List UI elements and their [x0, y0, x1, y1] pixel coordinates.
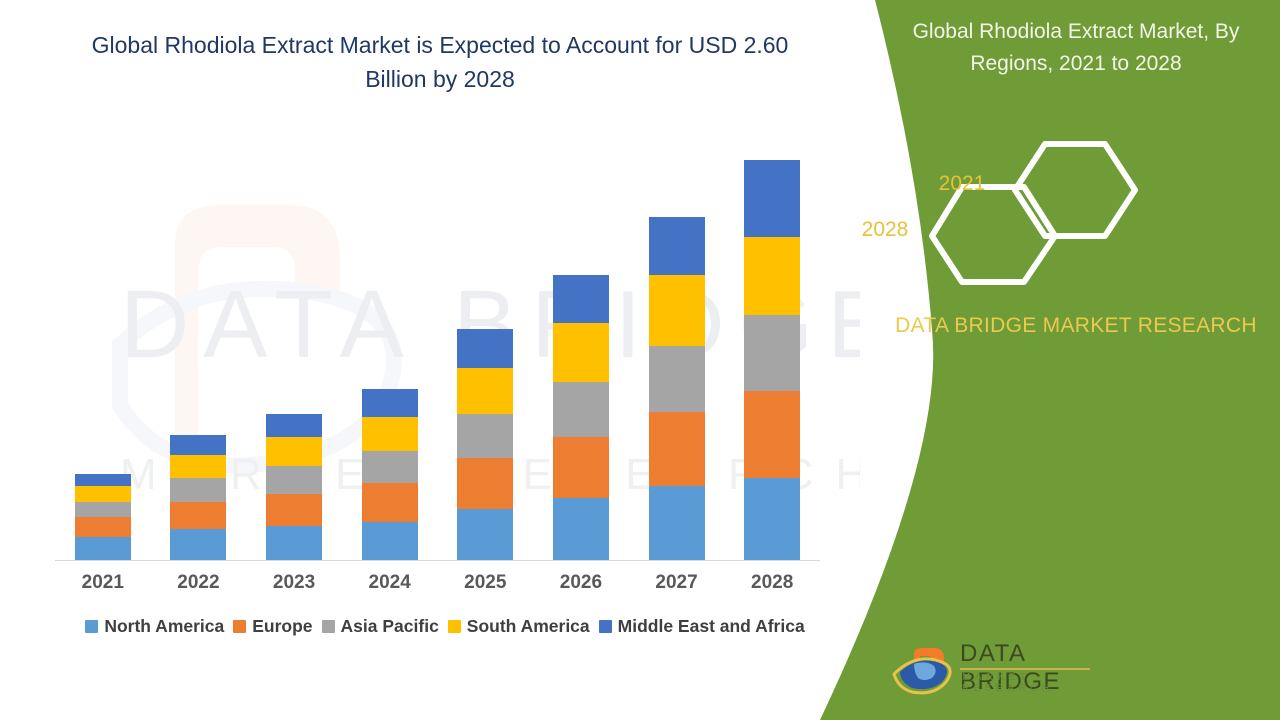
x-axis-label: 2027 [632, 572, 722, 594]
bar-segment [553, 275, 609, 323]
hexagon-label-2028: 2028 [845, 218, 925, 242]
bar-segment [553, 382, 609, 437]
bar-segment [744, 160, 800, 237]
legend-label: South America [467, 616, 590, 637]
bar-group [170, 435, 226, 560]
x-axis-labels: 20212022202320242025202620272028 [55, 572, 820, 602]
hexagon-label-2021: 2021 [922, 172, 1002, 196]
x-axis-label: 2026 [536, 572, 626, 594]
legend-item[interactable]: Middle East and Africa [599, 616, 805, 637]
bar-group [649, 217, 705, 560]
infographic-slide: DATA BRIDGE MARKET RESEARCH Global Rhodi… [0, 0, 1280, 720]
chart-title: Global Rhodiola Extract Market is Expect… [60, 28, 820, 96]
logo-divider [960, 668, 1090, 670]
bar-segment [744, 391, 800, 479]
bar-segment [170, 455, 226, 478]
bar-segment [362, 522, 418, 560]
bar-group [457, 329, 513, 560]
green-panel-shape [820, 0, 1280, 720]
legend-item[interactable]: Europe [233, 616, 312, 637]
bar-segment [744, 478, 800, 560]
legend-item[interactable]: North America [85, 616, 224, 637]
bar-segment [170, 529, 226, 560]
bar-segment [553, 323, 609, 381]
x-axis-label: 2025 [440, 572, 530, 594]
green-side-panel: Global Rhodiola Extract Market, By Regio… [820, 0, 1280, 720]
legend-item[interactable]: South America [448, 616, 590, 637]
bar-segment [457, 414, 513, 459]
bar-segment [744, 315, 800, 390]
bar-segment [170, 502, 226, 530]
bar-segment [744, 237, 800, 315]
x-axis-label: 2021 [58, 572, 148, 594]
bar-segment [362, 389, 418, 417]
legend-swatch-icon [599, 620, 612, 633]
bar-segment [362, 451, 418, 483]
bar-segment [649, 217, 705, 275]
legend-label: North America [104, 616, 224, 637]
bar-segment [649, 412, 705, 486]
hexagon-outline-icon [920, 140, 1150, 285]
legend-label: Asia Pacific [341, 616, 439, 637]
x-axis-line [55, 560, 820, 561]
bar-segment [75, 474, 131, 486]
bar-segment [266, 494, 322, 526]
bar-segment [553, 437, 609, 499]
bar-segment [75, 486, 131, 501]
bar-segment [457, 329, 513, 367]
legend-label: Europe [252, 616, 312, 637]
bar-segment [553, 498, 609, 560]
panel-title: Global Rhodiola Extract Market, By Regio… [820, 16, 1280, 80]
bar-segment [457, 368, 513, 414]
x-axis-label: 2028 [727, 572, 817, 594]
bar-segment [649, 486, 705, 560]
bar-group [362, 389, 418, 560]
chart-plot-area [55, 160, 820, 560]
bar-segment [649, 275, 705, 346]
hexagon-badges [920, 140, 1150, 285]
bar-group [553, 275, 609, 560]
bar-segment [266, 414, 322, 437]
bar-segment [649, 346, 705, 412]
x-axis-label: 2024 [345, 572, 435, 594]
x-axis-label: 2023 [249, 572, 339, 594]
chart-legend: North AmericaEuropeAsia PacificSouth Ame… [55, 616, 835, 637]
legend-label: Middle East and Africa [618, 616, 805, 637]
bar-segment [266, 466, 322, 494]
legend-swatch-icon [322, 620, 335, 633]
bar-segment [170, 435, 226, 455]
bar-segment [75, 502, 131, 517]
x-axis-label: 2022 [153, 572, 243, 594]
legend-swatch-icon [85, 620, 98, 633]
bar-segment [362, 483, 418, 521]
bar-segment [457, 509, 513, 560]
logo-subtitle: MARKET RESEARCH [962, 672, 1120, 694]
bar-segment [266, 526, 322, 560]
bar-group [266, 414, 322, 560]
logo-mark-icon [890, 630, 960, 700]
bar-group [75, 474, 131, 560]
legend-swatch-icon [448, 620, 461, 633]
data-bridge-logo: DATA BRIDGE MARKET RESEARCH [890, 628, 1120, 708]
panel-brand-text: DATA BRIDGE MARKET RESEARCH [820, 310, 1280, 342]
bar-segment [457, 458, 513, 509]
bar-segment [362, 417, 418, 451]
bar-segment [75, 537, 131, 560]
bar-group [744, 160, 800, 560]
bar-segment [75, 517, 131, 537]
legend-swatch-icon [233, 620, 246, 633]
bar-segment [266, 437, 322, 466]
legend-item[interactable]: Asia Pacific [322, 616, 439, 637]
bar-segment [170, 478, 226, 501]
